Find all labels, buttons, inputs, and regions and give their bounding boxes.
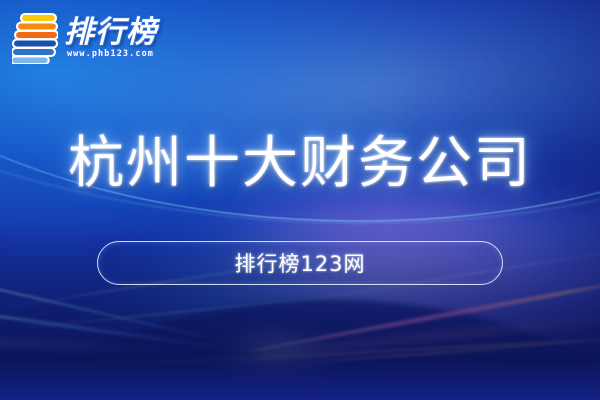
logo-brand-name: 排行榜 (64, 18, 157, 48)
banner-subtitle-text: 排行榜123网 (234, 248, 365, 278)
background-bottom-glow (0, 360, 600, 400)
banner-subtitle-pill: 排行榜123网 (97, 241, 503, 285)
banner-main-title: 杭州十大财务公司 (0, 134, 600, 194)
logo-text-block: 排行榜 www.phb123.com (64, 18, 157, 59)
site-logo[interactable]: 排行榜 www.phb123.com (12, 12, 157, 64)
logo-url: www.phb123.com (67, 50, 154, 59)
ranking-podium-bars-logo-icon (12, 12, 58, 64)
banner-image: 排行榜 www.phb123.com 杭州十大财务公司 排行榜123网 (0, 0, 600, 400)
